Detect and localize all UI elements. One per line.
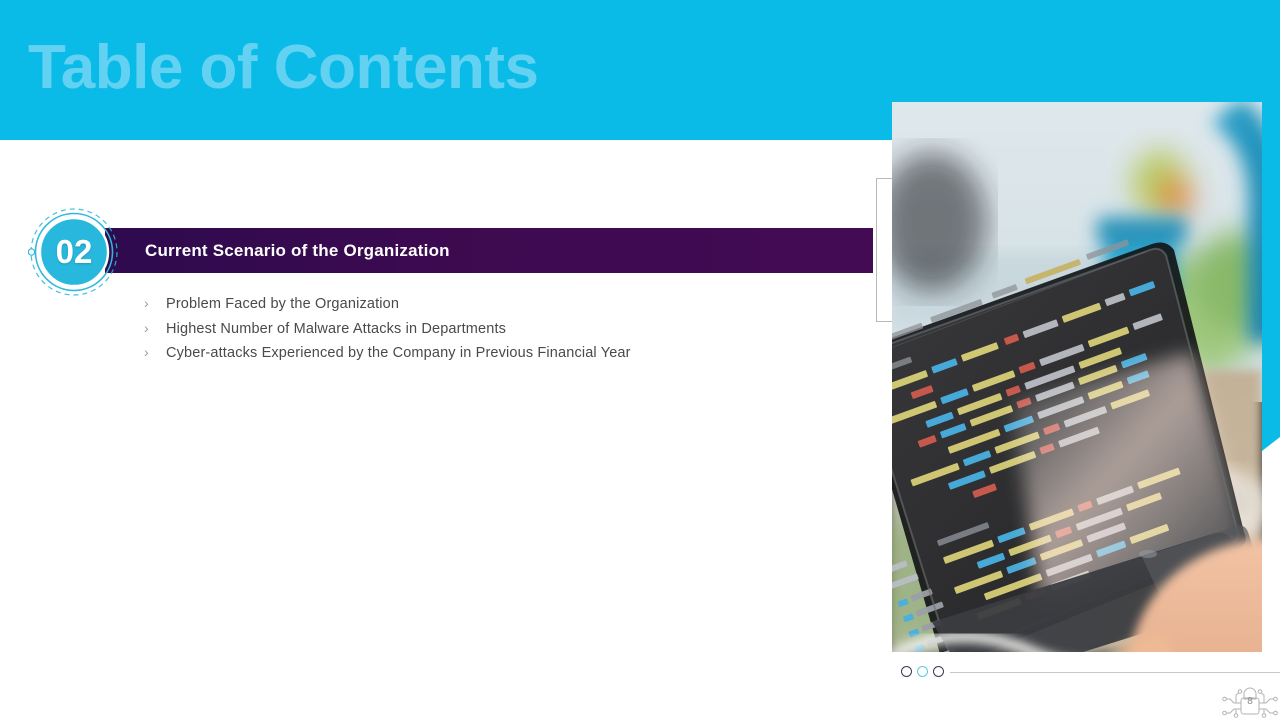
padlock-circuit-icon: 8 bbox=[1222, 684, 1278, 718]
right-accent-strip bbox=[1262, 102, 1280, 437]
pagination-rule bbox=[950, 672, 1280, 673]
chevron-right-icon: › bbox=[144, 316, 166, 341]
section-heading-text: Current Scenario of the Organization bbox=[145, 228, 450, 273]
hero-photo bbox=[892, 102, 1262, 652]
section-number-text: 02 bbox=[28, 206, 120, 298]
pagination-dot-3[interactable] bbox=[933, 666, 944, 677]
pagination-dot-2[interactable] bbox=[917, 666, 928, 677]
chevron-right-icon: › bbox=[144, 291, 166, 316]
section-number-badge: 02 bbox=[28, 206, 120, 298]
section-heading-bar: Current Scenario of the Organization bbox=[105, 228, 873, 273]
list-item-label: Problem Faced by the Organization bbox=[166, 292, 399, 317]
section-items-list: › Problem Faced by the Organization › Hi… bbox=[144, 291, 844, 365]
list-item: › Cyber-attacks Experienced by the Compa… bbox=[144, 340, 844, 365]
pagination-dots[interactable] bbox=[901, 666, 949, 677]
slide-root: Table of Contents bbox=[0, 0, 1280, 720]
list-item-label: Cyber-attacks Experienced by the Company… bbox=[166, 341, 631, 366]
list-item: › Problem Faced by the Organization bbox=[144, 291, 844, 316]
chevron-right-icon: › bbox=[144, 340, 166, 365]
page-number-text: 8 bbox=[1222, 684, 1278, 718]
list-item-label: Highest Number of Malware Attacks in Dep… bbox=[166, 317, 506, 342]
list-item: › Highest Number of Malware Attacks in D… bbox=[144, 316, 844, 341]
pagination-dot-1[interactable] bbox=[901, 666, 912, 677]
page-title: Table of Contents bbox=[28, 29, 538, 107]
